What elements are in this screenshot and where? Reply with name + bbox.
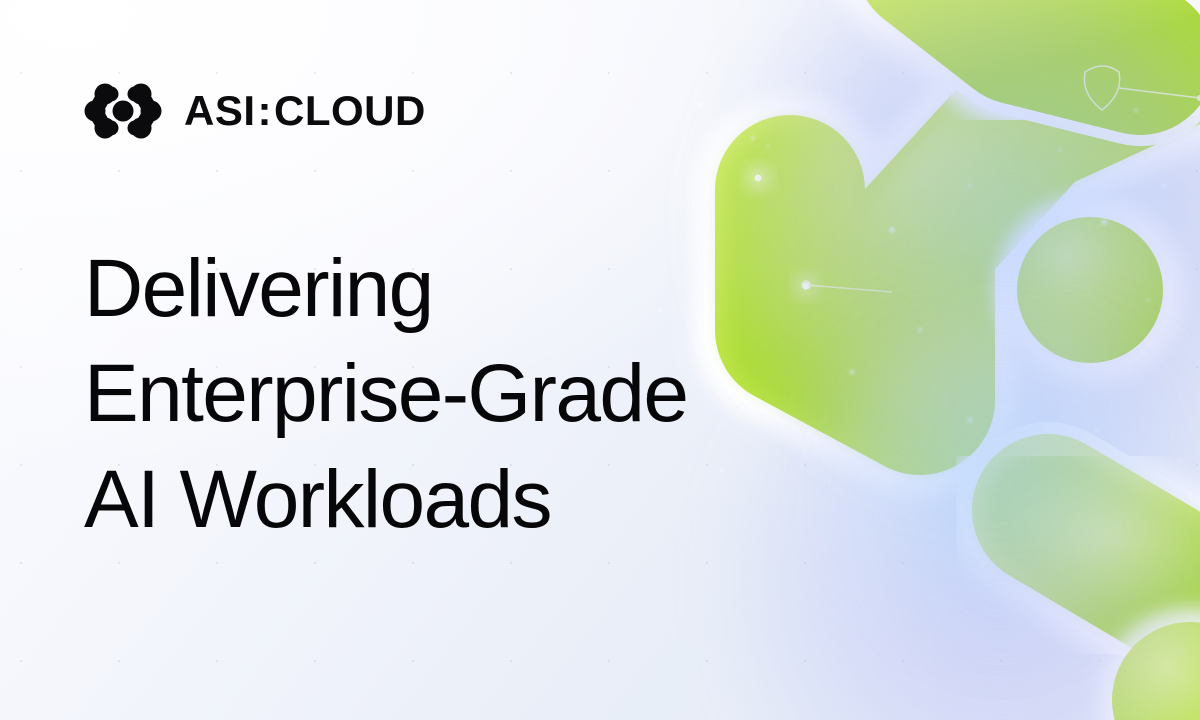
background-bloom-top: [700, 0, 1200, 530]
headline-line-3: AI Workloads: [84, 447, 687, 552]
green-node-bottom-right: [1098, 608, 1200, 720]
wireframe-detail-top: [1084, 66, 1200, 110]
sparkle-particles: [658, 93, 1182, 670]
wireframe-detail-low: [802, 281, 892, 292]
green-dumbbell-lower: [1048, 510, 1200, 600]
wireframe-detail-mid: [634, 165, 830, 206]
background-bloom-bottom: [720, 300, 1200, 720]
brand-logo[interactable]: ASI:CLOUD: [84, 80, 426, 142]
green-chain-top-right: [930, 0, 1140, 60]
green-node-middle: [994, 194, 1186, 386]
green-chain-upper: [790, 60, 1160, 400]
headline-line-1: Delivering: [84, 236, 687, 341]
brand-wordmark: ASI:CLOUD: [184, 90, 426, 132]
background-bloom-middle: [810, 300, 1190, 680]
brand-name-suffix: CLOUD: [274, 87, 426, 134]
page-title: Delivering Enterprise-Grade AI Workloads: [84, 236, 687, 552]
hero-banner: ASI:CLOUD Delivering Enterprise-Grade AI…: [0, 0, 1200, 720]
headline-line-2: Enterprise-Grade: [84, 341, 687, 446]
brand-name-prefix: ASI: [184, 87, 256, 134]
asi-cloud-hex-molecule-mark: [84, 80, 162, 142]
brand-name-separator: :: [258, 87, 273, 134]
star-glint: [749, 169, 814, 294]
